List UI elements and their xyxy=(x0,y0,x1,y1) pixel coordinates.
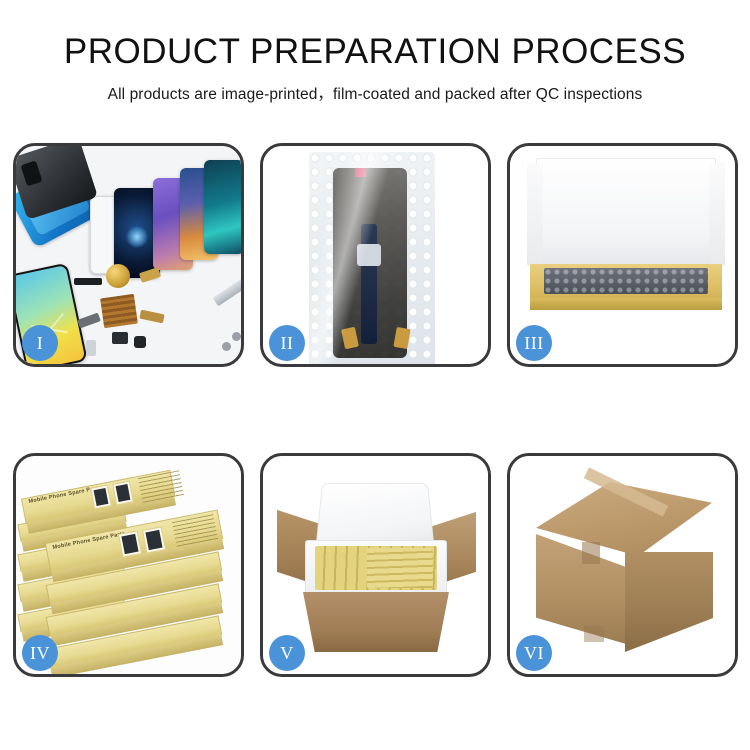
connector-pad xyxy=(357,244,381,266)
spare-part xyxy=(74,278,102,285)
foam-lid xyxy=(316,483,435,547)
step-panel-3: III xyxy=(507,143,738,367)
spare-part xyxy=(86,340,96,356)
box-thumbnail xyxy=(90,484,112,509)
step-panel-5: V xyxy=(260,453,491,677)
step-badge-1: I xyxy=(22,325,58,361)
packed-retail-boxes-row2 xyxy=(367,548,433,588)
header: PRODUCT PREPARATION PROCESS All products… xyxy=(0,0,750,104)
spare-part xyxy=(139,310,164,324)
step-panel-4: Mobile Phone Spare Parts Mobile Phone Sp… xyxy=(13,453,244,677)
step-badge-5: V xyxy=(269,635,305,671)
step-badge-4: IV xyxy=(22,635,58,671)
process-steps-grid: I II xyxy=(13,143,738,677)
page-title: PRODUCT PREPARATION PROCESS xyxy=(0,34,750,69)
gold-component xyxy=(106,264,130,288)
box-thumbnail xyxy=(112,480,134,505)
flex-cable xyxy=(361,224,377,344)
teal-gradient-phone xyxy=(204,160,241,254)
screw-part xyxy=(222,342,231,351)
carton-left-face xyxy=(536,534,626,644)
gold-connector xyxy=(393,327,410,349)
spare-part xyxy=(134,336,146,348)
box-thumbnail xyxy=(142,526,166,553)
step-panel-6: VI xyxy=(507,453,738,677)
shipping-carton-body xyxy=(303,592,449,652)
box-thumbnail xyxy=(118,530,142,557)
spare-part xyxy=(77,313,101,329)
screw-part xyxy=(232,332,241,341)
carton-seam xyxy=(582,542,600,564)
page-subtitle: All products are image-printed，film-coat… xyxy=(0,82,750,104)
tray-front-lip xyxy=(530,298,722,310)
chip-array-part xyxy=(100,294,138,328)
carton-right-face xyxy=(625,552,713,652)
bubble-wrap-bag xyxy=(309,152,435,364)
step-badge-3: III xyxy=(516,325,552,361)
tweezers-tool xyxy=(213,276,241,307)
step-panel-1: I xyxy=(13,143,244,367)
red-qc-label xyxy=(355,168,366,177)
step-badge-2: II xyxy=(269,325,305,361)
white-box-lid xyxy=(536,158,716,270)
step-badge-6: VI xyxy=(516,635,552,671)
spare-part xyxy=(112,332,128,344)
carton-seam xyxy=(584,626,604,642)
step-panel-2: II xyxy=(260,143,491,367)
foam-bubble-insert xyxy=(544,268,708,294)
product-preparation-infographic: PRODUCT PREPARATION PROCESS All products… xyxy=(0,0,750,750)
